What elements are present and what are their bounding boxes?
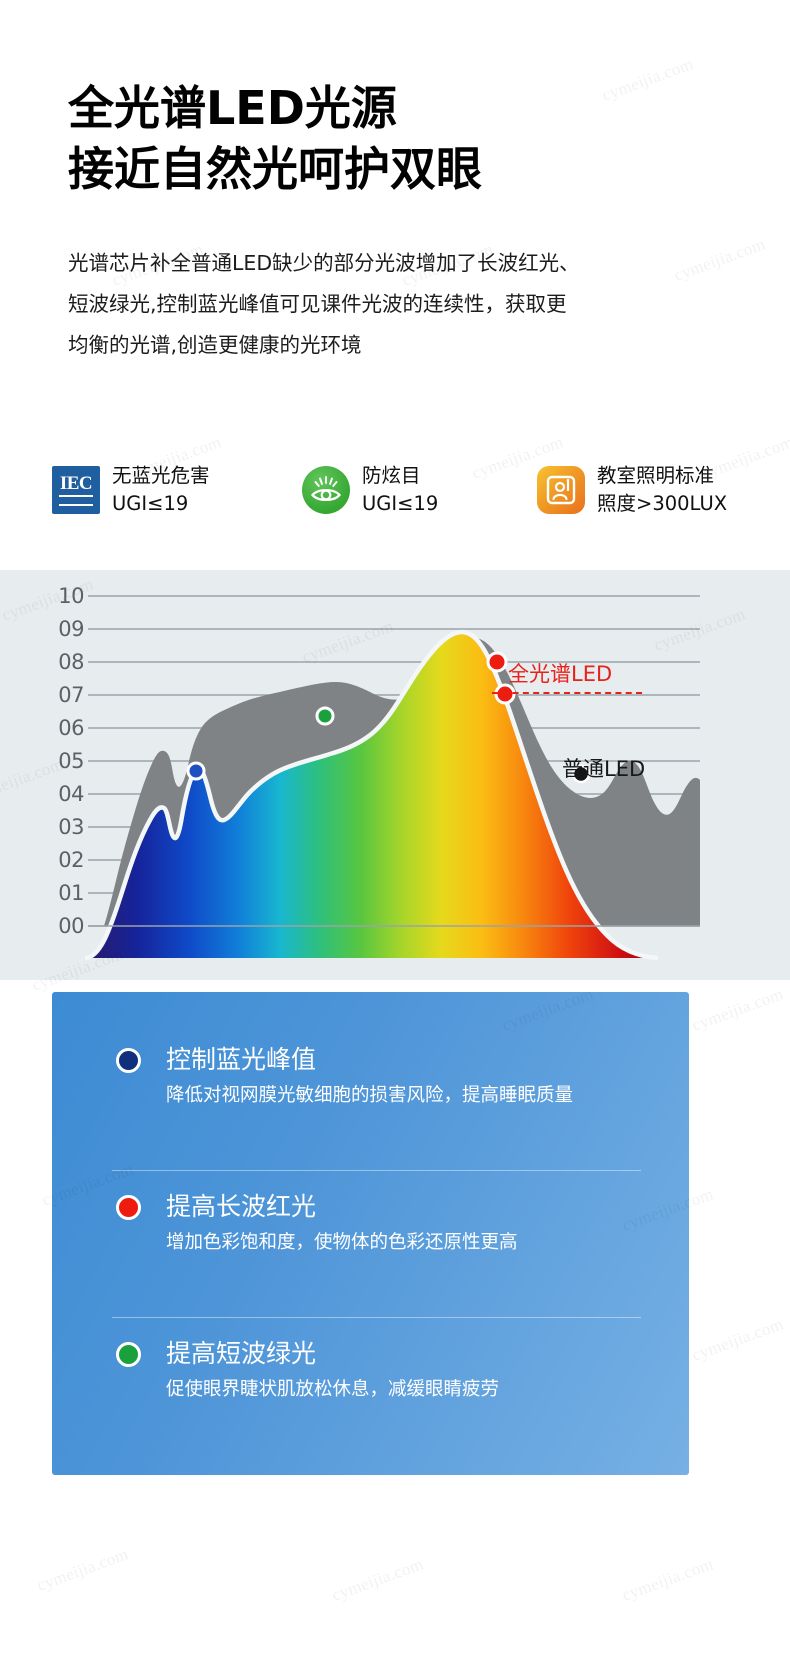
green-dot-icon	[116, 1342, 141, 1367]
iec-certification-icon: IEC	[52, 466, 100, 514]
watermark: cymeijia.com	[329, 1554, 426, 1606]
feature-card: 控制蓝光峰值 降低对视网膜光敏细胞的损害风险，提高睡眠质量 提高长波红光 增加色…	[52, 992, 689, 1475]
feature-title: 提高短波绿光	[166, 1338, 649, 1369]
badge-line-1: 无蓝光危害	[112, 462, 210, 490]
headline-line-2: 接近自然光呵护双眼	[68, 139, 790, 200]
watermark: cymeijia.com	[34, 1544, 131, 1596]
full-spectrum-legend-label: 全光谱LED	[508, 658, 612, 688]
spectrum-chart-svg	[0, 570, 790, 980]
certification-badges: IEC 无蓝光危害 UGI≤19	[52, 462, 752, 517]
badge-text: 防炫目 UGI≤19	[362, 462, 438, 517]
watermark: cymeijia.com	[689, 1314, 786, 1366]
iec-icon-label: IEC	[60, 474, 92, 493]
badge-text: 无蓝光危害 UGI≤19	[112, 462, 210, 517]
badge-anti-glare: 防炫目 UGI≤19	[302, 462, 537, 517]
navy-dot-icon	[116, 1048, 141, 1073]
feature-title: 提高长波红光	[166, 1191, 649, 1222]
ordinary-led-legend-label: 普通LED	[562, 753, 645, 783]
headline-line-1: 全光谱LED光源	[68, 81, 397, 135]
feature-subtitle: 促使眼界睫状肌放松休息，减缓眼睛疲劳	[166, 1377, 649, 1404]
badge-line-2: UGI≤19	[112, 490, 210, 518]
feature-divider	[112, 1170, 641, 1171]
feature-divider	[112, 1317, 641, 1318]
red-marker-upper	[488, 653, 506, 671]
description-line-2: 短波绿光,控制蓝光峰值可见课件光波的连续性，获取更	[68, 284, 688, 325]
feature-subtitle: 增加色彩饱和度，使物体的色彩还原性更高	[166, 1230, 649, 1257]
badge-line-2: UGI≤19	[362, 490, 438, 518]
full-spectrum-legend-dashline	[492, 692, 642, 694]
badge-no-blue-light-hazard: IEC 无蓝光危害 UGI≤19	[52, 462, 302, 517]
header-section: 全光谱LED光源 接近自然光呵护双眼 光谱芯片补全普通LED缺少的部分光波增加了…	[0, 0, 790, 366]
green-marker	[317, 708, 333, 724]
description-line-3: 均衡的光谱,创造更健康的光环境	[68, 325, 688, 366]
red-dot-icon	[116, 1195, 141, 1220]
description-paragraph: 光谱芯片补全普通LED缺少的部分光波增加了长波红光、 短波绿光,控制蓝光峰值可见…	[68, 243, 688, 366]
feature-item-green-light: 提高短波绿光 促使眼界睫状肌放松休息，减缓眼睛疲劳	[110, 1338, 649, 1446]
iec-icon-rule	[59, 495, 93, 497]
badge-line-1: 教室照明标准	[597, 462, 727, 490]
blue-peak-marker	[188, 763, 204, 779]
spectrum-chart-panel: 10 09 08 07 06 05 04 03 02 01 00	[0, 570, 790, 980]
classroom-lighting-icon	[537, 466, 585, 514]
badge-classroom-lighting: 教室照明标准 照度>300LUX	[537, 462, 752, 517]
badge-line-2: 照度>300LUX	[597, 490, 727, 518]
iec-icon-rule2	[59, 500, 93, 506]
watermark: cymeijia.com	[689, 984, 786, 1036]
description-line-1: 光谱芯片补全普通LED缺少的部分光波增加了长波红光、	[68, 243, 688, 284]
feature-item-red-light: 提高长波红光 增加色彩饱和度，使物体的色彩还原性更高	[110, 1191, 649, 1299]
anti-glare-eye-icon	[302, 466, 350, 514]
badge-text: 教室照明标准 照度>300LUX	[597, 462, 727, 517]
watermark: cymeijia.com	[619, 1554, 716, 1606]
badge-line-1: 防炫目	[362, 462, 438, 490]
page-title: 全光谱LED光源 接近自然光呵护双眼	[68, 0, 790, 199]
feature-subtitle: 降低对视网膜光敏细胞的损害风险，提高睡眠质量	[166, 1083, 649, 1110]
product-detail-page: 全光谱LED光源 接近自然光呵护双眼 光谱芯片补全普通LED缺少的部分光波增加了…	[0, 0, 790, 1663]
feature-title: 控制蓝光峰值	[166, 1044, 649, 1075]
feature-item-blue-peak: 控制蓝光峰值 降低对视网膜光敏细胞的损害风险，提高睡眠质量	[110, 1044, 649, 1152]
